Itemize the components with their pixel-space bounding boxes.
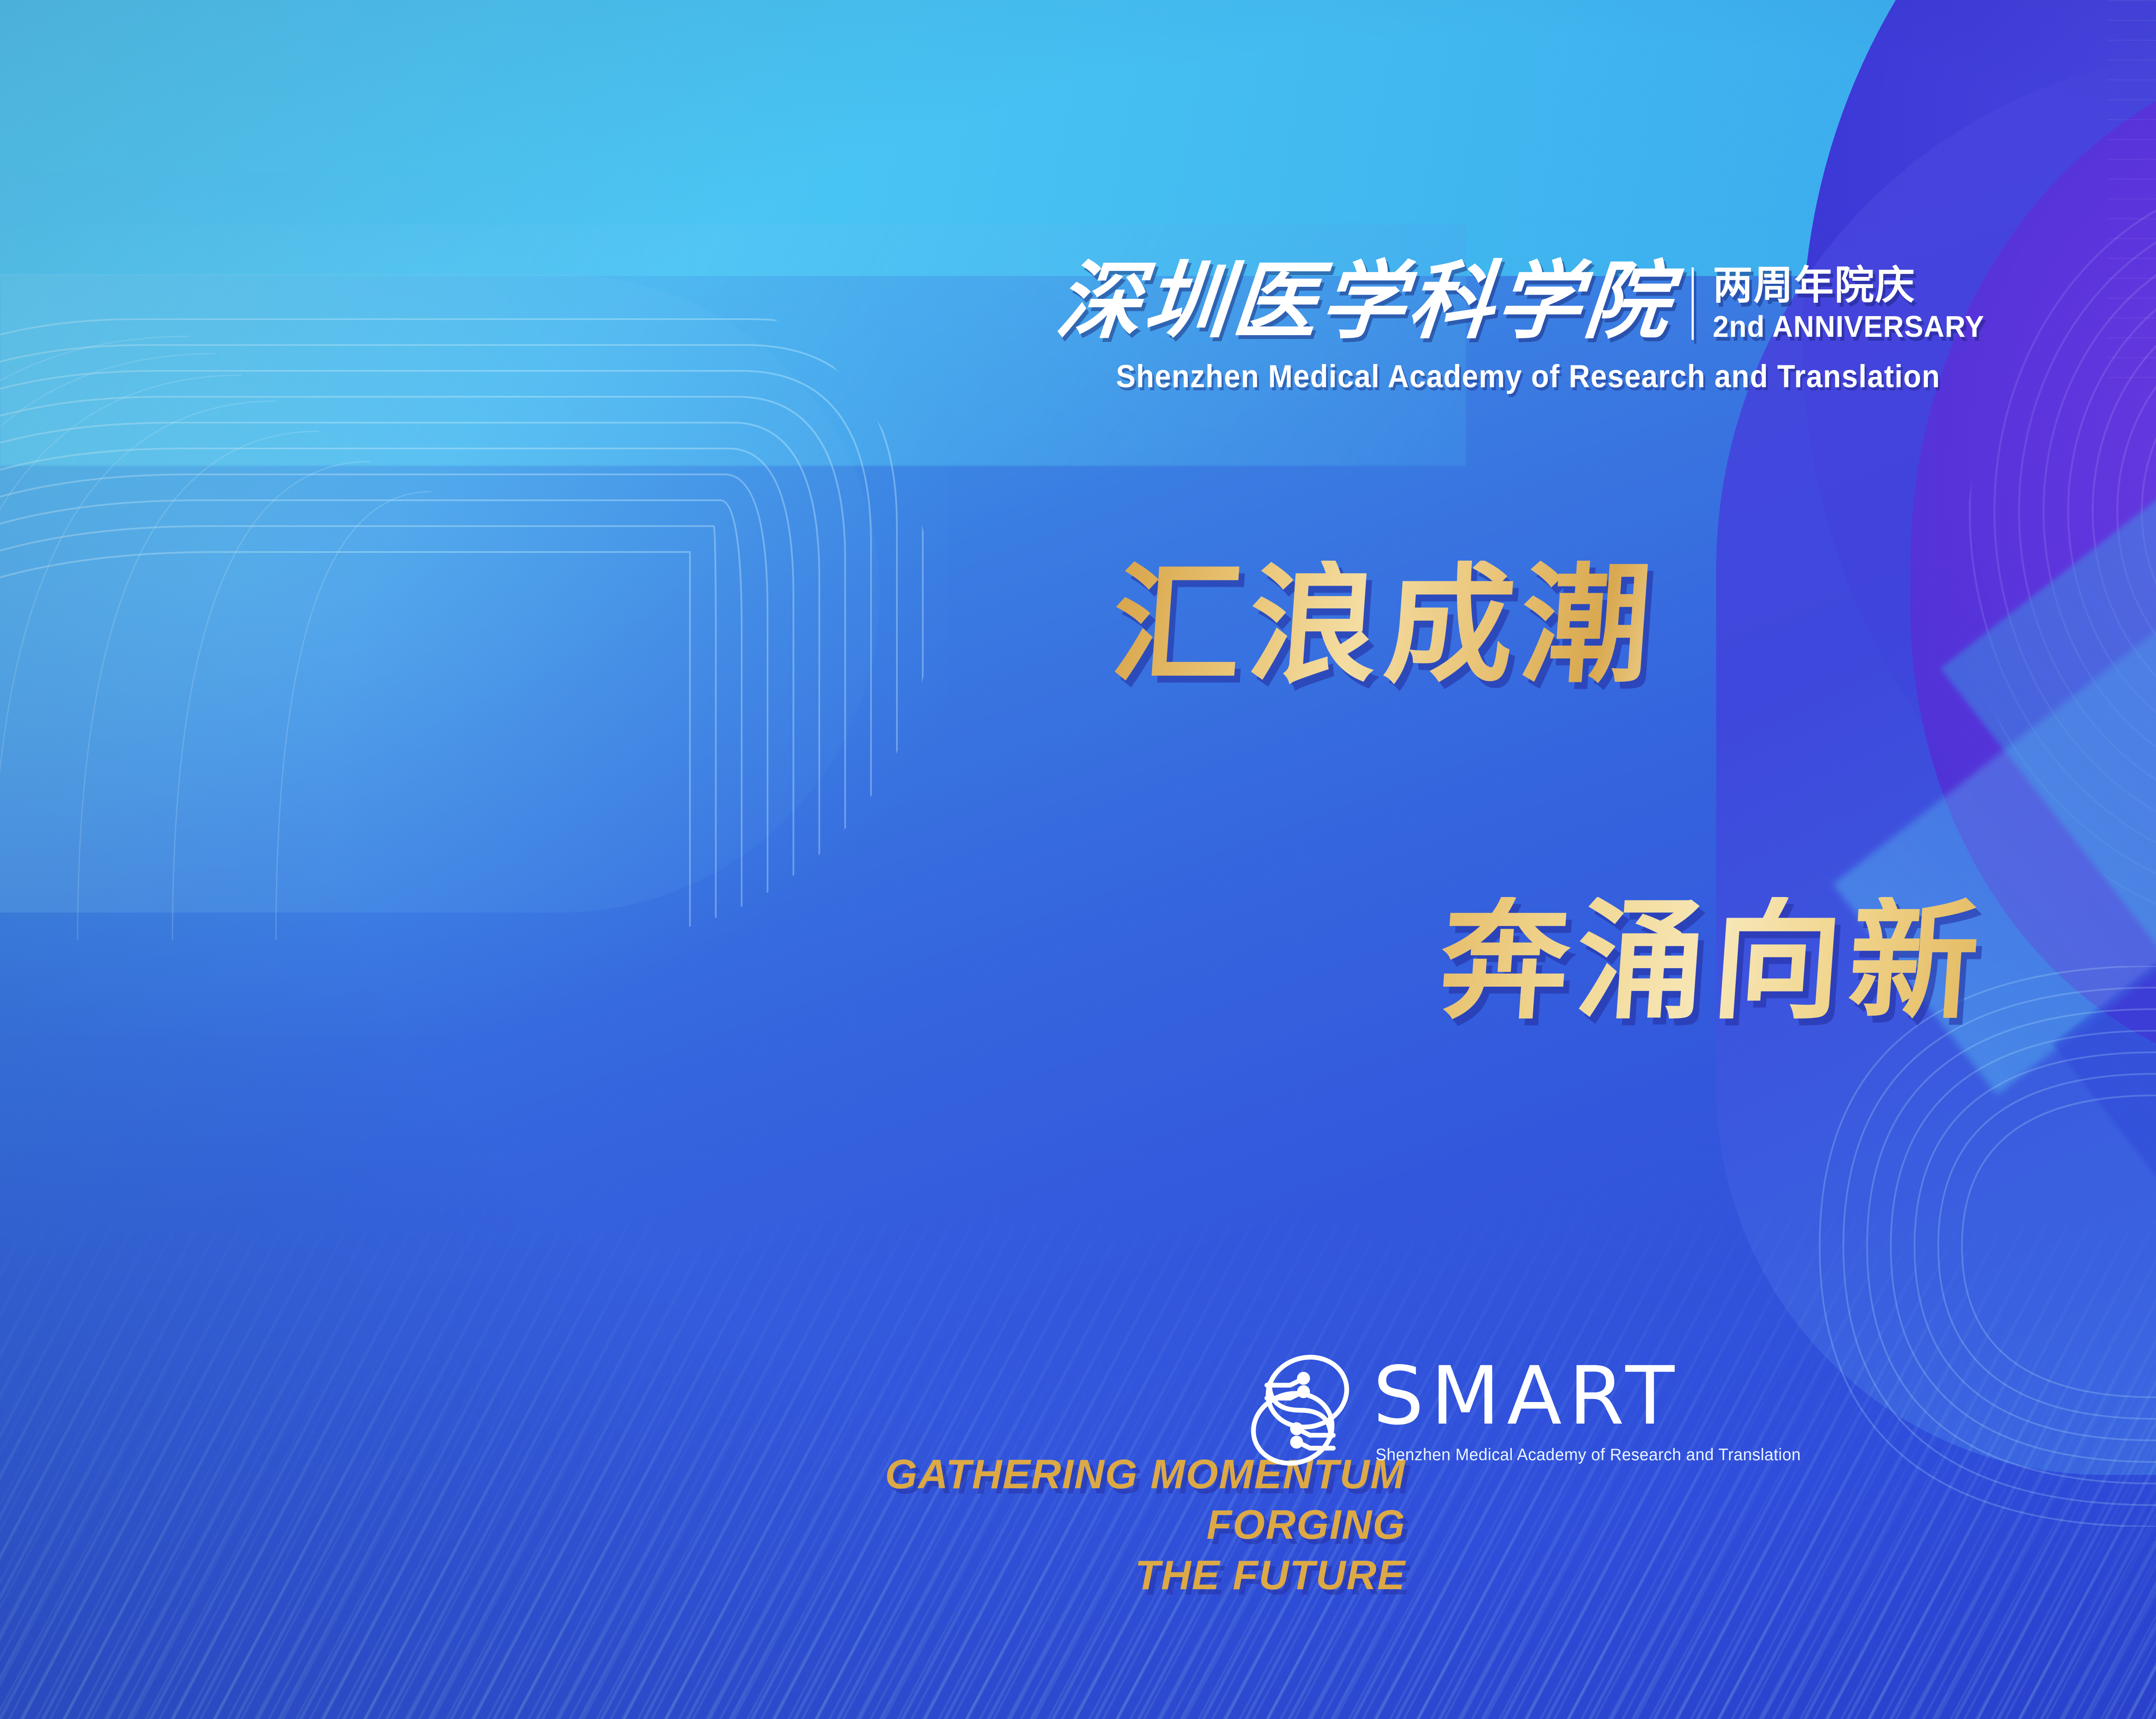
tagline-line-3: THE FUTURE — [733, 1550, 1406, 1600]
anniversary-block: 两周年院庆 2nd ANNIVERSARY — [1713, 266, 1999, 343]
anniversary-label-en: 2nd ANNIVERSARY — [1713, 311, 1984, 342]
smart-wordmark: SMART — [1373, 1356, 1814, 1436]
headline-group: 汇浪成潮 奔涌向新 GATHERING MOMENTUM FORGING THE… — [0, 539, 2156, 1143]
academy-lockup: 深圳医学科学院 两周年院庆 2nd ANNIVERSARY Shenzhen M… — [0, 259, 2156, 395]
smart-s-ellipse-mark-icon — [1242, 1346, 1358, 1475]
lockup-divider — [1692, 267, 1694, 340]
headline-line-1: 汇浪成潮 — [1108, 561, 1662, 690]
lockup-top-row: 深圳医学科学院 两周年院庆 2nd ANNIVERSARY — [1057, 259, 1999, 343]
smart-logo: SMART Shenzhen Medical Academy of Resear… — [0, 1346, 2156, 1475]
poster-canvas: 深圳医学科学院 两周年院庆 2nd ANNIVERSARY Shenzhen M… — [0, 0, 2156, 1719]
smart-subtitle: Shenzhen Medical Academy of Research and… — [1376, 1446, 1801, 1465]
tagline-line-2: FORGING — [733, 1499, 1406, 1550]
poster-content: 深圳医学科学院 两周年院庆 2nd ANNIVERSARY Shenzhen M… — [0, 0, 2156, 1719]
anniversary-label-cn: 两周年院庆 — [1713, 266, 1999, 305]
smart-logo-text: SMART Shenzhen Medical Academy of Resear… — [1373, 1356, 1814, 1465]
headline-line-2: 奔涌向新 — [1436, 897, 1990, 1026]
smart-logo-inner: SMART Shenzhen Medical Academy of Resear… — [1242, 1346, 1814, 1475]
academy-name-cn: 深圳医学科学院 — [1053, 259, 1677, 343]
academy-name-en: Shenzhen Medical Academy of Research and… — [1116, 358, 1940, 395]
